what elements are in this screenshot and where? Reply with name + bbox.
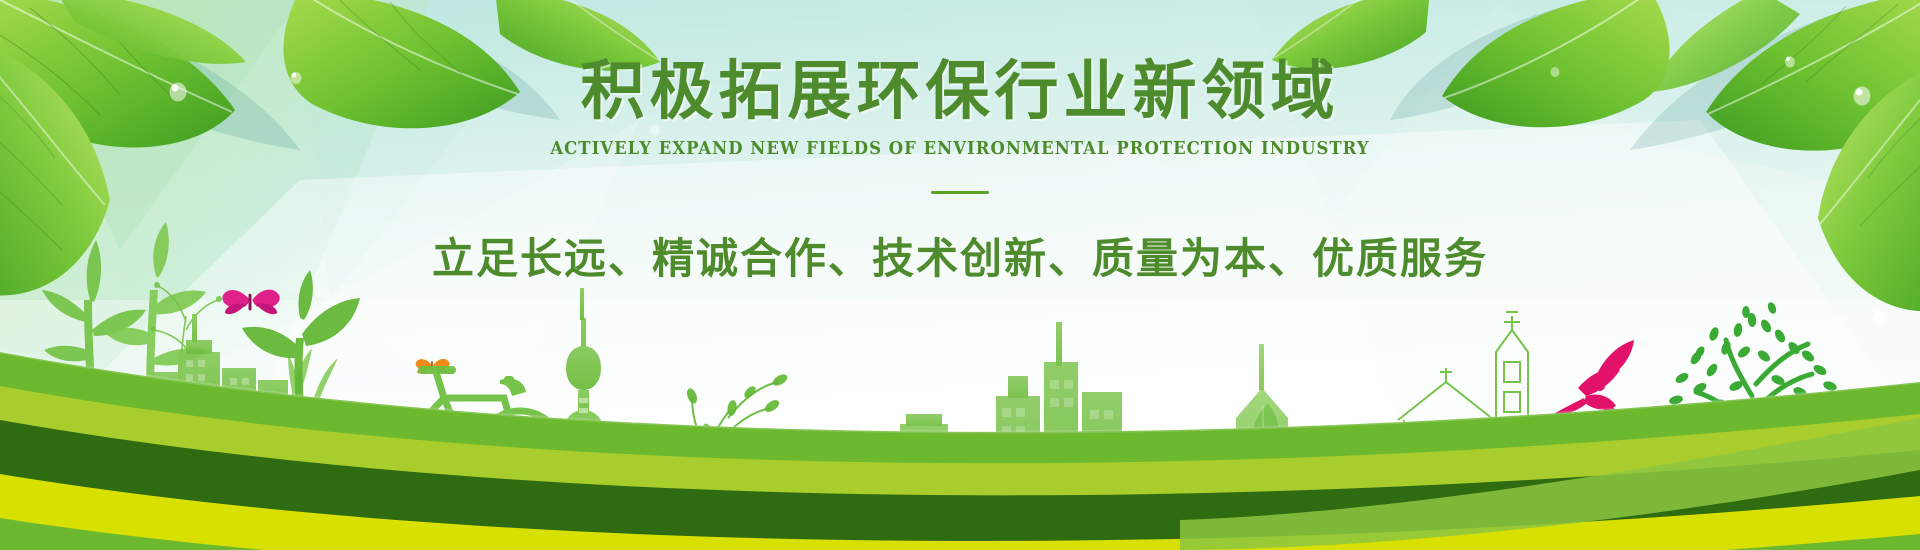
environmental-banner: 积极拓展环保行业新领域 ACTIVELY EXPAND NEW FIELDS O… xyxy=(0,0,1920,550)
right-hill-overlay xyxy=(0,0,1920,550)
